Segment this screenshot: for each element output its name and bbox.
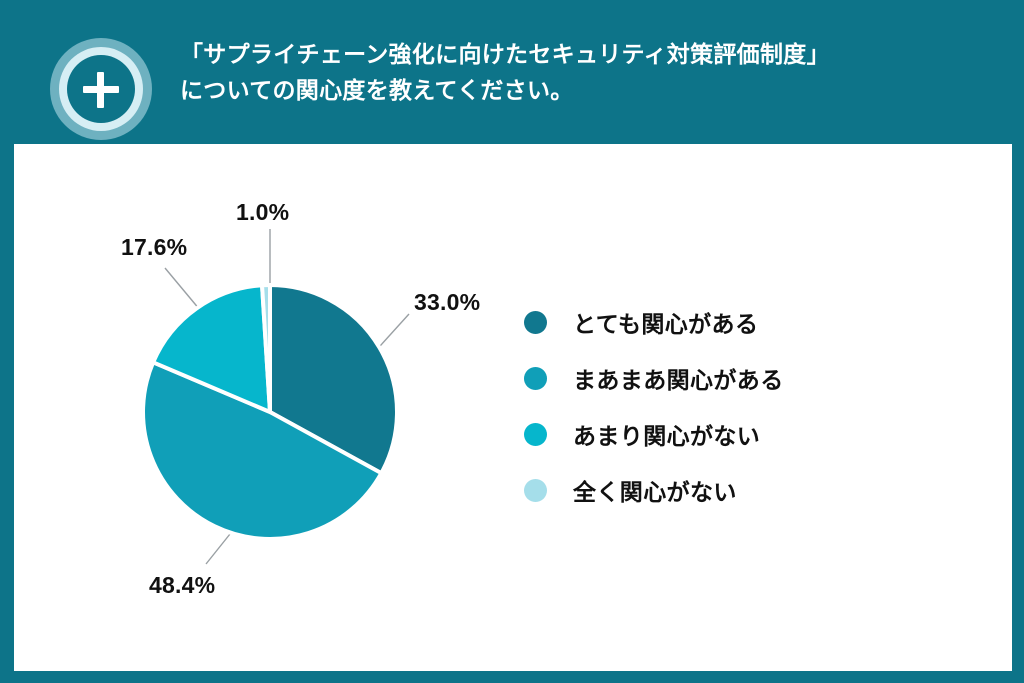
content-card: 1.0% 17.6% 33.0% 48.4% とても関心がある まあまあ関心があ…: [14, 144, 1012, 671]
page-title-line-1: 「サプライチェーン強化に向けたセキュリティ対策評価制度」: [180, 36, 990, 72]
page-title: 「サプライチェーン強化に向けたセキュリティ対策評価制度」 についての関心度を教え…: [180, 36, 990, 108]
pie-label-17-6-percent: 17.6%: [121, 234, 187, 261]
legend-item-0[interactable]: とても関心がある: [524, 294, 994, 350]
legend-label-0: とても関心がある: [573, 305, 758, 339]
legend-swatch-icon-3: [524, 479, 547, 502]
legend-swatch-icon-0: [524, 311, 547, 334]
pie-chart: 1.0% 17.6% 33.0% 48.4%: [14, 144, 534, 671]
legend-item-1[interactable]: まあまあ関心がある: [524, 350, 994, 406]
plus-icon-vertical-bar: [97, 72, 104, 108]
page-title-line-2: についての関心度を教えてください。: [180, 72, 990, 108]
pie-slice-group: [143, 285, 397, 539]
pie-label-1-0-percent: 1.0%: [236, 199, 289, 226]
legend-label-2: あまり関心がない: [573, 417, 760, 451]
pie-label-33-0-percent: 33.0%: [414, 289, 480, 316]
legend-item-3[interactable]: 全く関心がない: [524, 462, 994, 518]
slide-root: 「サプライチェーン強化に向けたセキュリティ対策評価制度」 についての関心度を教え…: [0, 0, 1024, 683]
legend-item-2[interactable]: あまり関心がない: [524, 406, 994, 462]
pie-label-48-4-percent: 48.4%: [149, 572, 215, 599]
legend-swatch-icon-1: [524, 367, 547, 390]
legend-label-1: まあまあ関心がある: [573, 361, 784, 395]
legend-swatch-icon-2: [524, 423, 547, 446]
chart-legend: とても関心がある まあまあ関心がある あまり関心がない 全く関心がない: [524, 294, 994, 518]
legend-label-3: 全く関心がない: [573, 473, 737, 507]
header-band: 「サプライチェーン強化に向けたセキュリティ対策評価制度」 についての関心度を教え…: [0, 0, 1024, 144]
plus-badge-icon: [50, 38, 152, 140]
